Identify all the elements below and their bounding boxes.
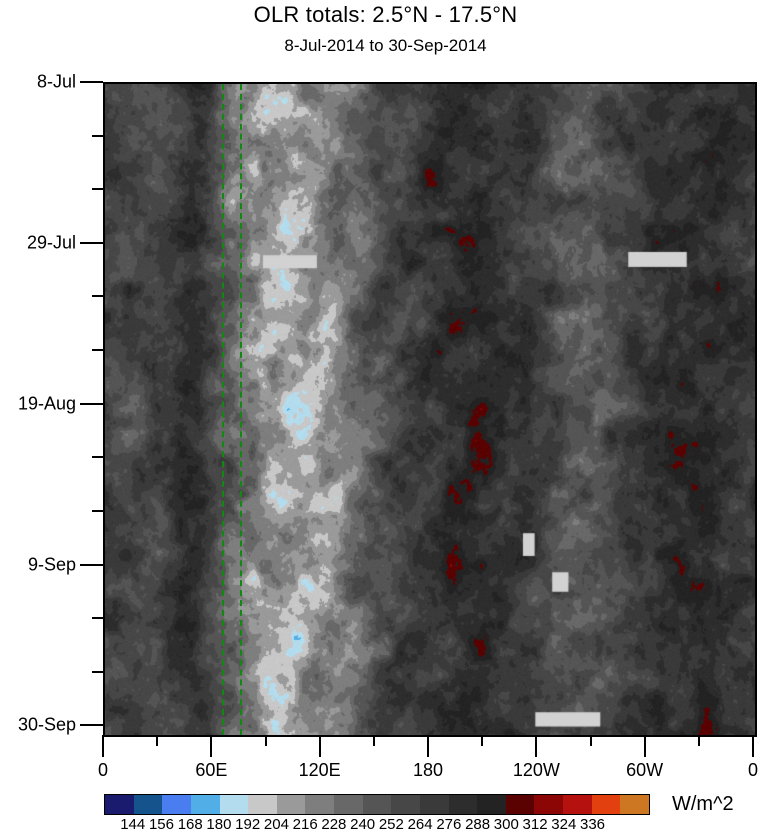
x-tick-label-120E: 120E [299,760,341,781]
colorbar-tick-252: 252 [379,816,404,833]
colorbar-swatch-7 [305,795,334,814]
colorbar-tick-240: 240 [350,816,375,833]
colorbar-swatch-14 [506,795,535,814]
colorbar-swatch-10 [391,795,420,814]
colorbar-swatch-13 [477,795,506,814]
reference-line-west [222,84,224,735]
figure-subtitle: 8-Jul-2014 to 30-Sep-2014 [0,36,771,56]
x-tick-minor [265,735,267,746]
y-tick-minor [92,617,103,619]
x-tick-major [427,735,429,757]
x-tick-minor [481,735,483,746]
x-tick-minor [590,735,592,746]
x-tick-minor [698,735,700,746]
x-tick-major [752,735,754,757]
colorbar-tick-156: 156 [149,816,174,833]
colorbar-swatch-15 [534,795,563,814]
y-tick-major [80,403,103,405]
x-tick-label-0: 0 [748,760,758,781]
x-tick-minor [156,735,158,746]
x-tick-major [210,735,212,757]
y-tick-minor [92,349,103,351]
x-tick-minor [373,735,375,746]
colorbar-swatch-5 [248,795,277,814]
x-tick-label-120W: 120W [513,760,560,781]
colorbar-swatch-16 [563,795,592,814]
colorbar [104,794,650,815]
colorbar-tick-276: 276 [436,816,461,833]
page-title: OLR totals: 2.5°N - 17.5°N [0,2,771,28]
colorbar-tick-204: 204 [264,816,289,833]
colorbar-tick-324: 324 [551,816,576,833]
colorbar-swatch-3 [191,795,220,814]
colorbar-swatch-12 [449,795,478,814]
colorbar-tick-300: 300 [494,816,519,833]
x-tick-label-180: 180 [413,760,443,781]
colorbar-tick-216: 216 [293,816,318,833]
colorbar-unit-label: W/m^2 [672,793,734,816]
y-tick-minor [92,135,103,137]
y-tick-minor [92,295,103,297]
y-tick-major [80,724,103,726]
y-tick-major [80,564,103,566]
colorbar-tick-192: 192 [235,816,260,833]
colorbar-swatch-4 [220,795,249,814]
colorbar-swatch-9 [363,795,392,814]
y-tick-minor [92,188,103,190]
y-tick-major [80,81,103,83]
y-tick-major [80,242,103,244]
y-tick-label-30-sep: 30-Sep [18,715,76,736]
plot-area [103,82,757,737]
colorbar-tick-312: 312 [523,816,548,833]
colorbar-tick-264: 264 [408,816,433,833]
colorbar-tick-288: 288 [465,816,490,833]
colorbar-tick-168: 168 [178,816,203,833]
olr-hovmoller-figure: OLR totals: 2.5°N - 17.5°N 8-Jul-2014 to… [0,0,771,834]
x-tick-label-60E: 60E [195,760,227,781]
y-tick-label-8-jul: 8-Jul [37,72,76,93]
colorbar-swatch-1 [134,795,163,814]
colorbar-swatch-0 [105,795,134,814]
colorbar-tick-180: 180 [206,816,231,833]
x-tick-major [644,735,646,757]
y-tick-minor [92,456,103,458]
colorbar-swatch-6 [277,795,306,814]
olr-contour-field [105,84,755,735]
colorbar-swatch-2 [162,795,191,814]
x-tick-major [319,735,321,757]
colorbar-swatch-11 [420,795,449,814]
colorbar-tick-336: 336 [580,816,605,833]
y-tick-label-29-jul: 29-Jul [27,232,76,253]
y-tick-minor [92,510,103,512]
x-tick-label-0: 0 [98,760,108,781]
colorbar-swatch-18 [620,795,649,814]
x-tick-label-60W: 60W [626,760,663,781]
colorbar-tick-228: 228 [321,816,346,833]
colorbar-swatch-17 [592,795,621,814]
y-tick-label-19-aug: 19-Aug [18,393,76,414]
y-tick-label-9-sep: 9-Sep [28,554,76,575]
x-tick-major [535,735,537,757]
colorbar-swatch-8 [334,795,363,814]
reference-line-east [240,84,242,735]
colorbar-ticklabels: 1441561681801922042162282402522642762883… [104,816,650,836]
x-tick-major [102,735,104,757]
colorbar-tick-144: 144 [120,816,145,833]
y-tick-minor [92,671,103,673]
